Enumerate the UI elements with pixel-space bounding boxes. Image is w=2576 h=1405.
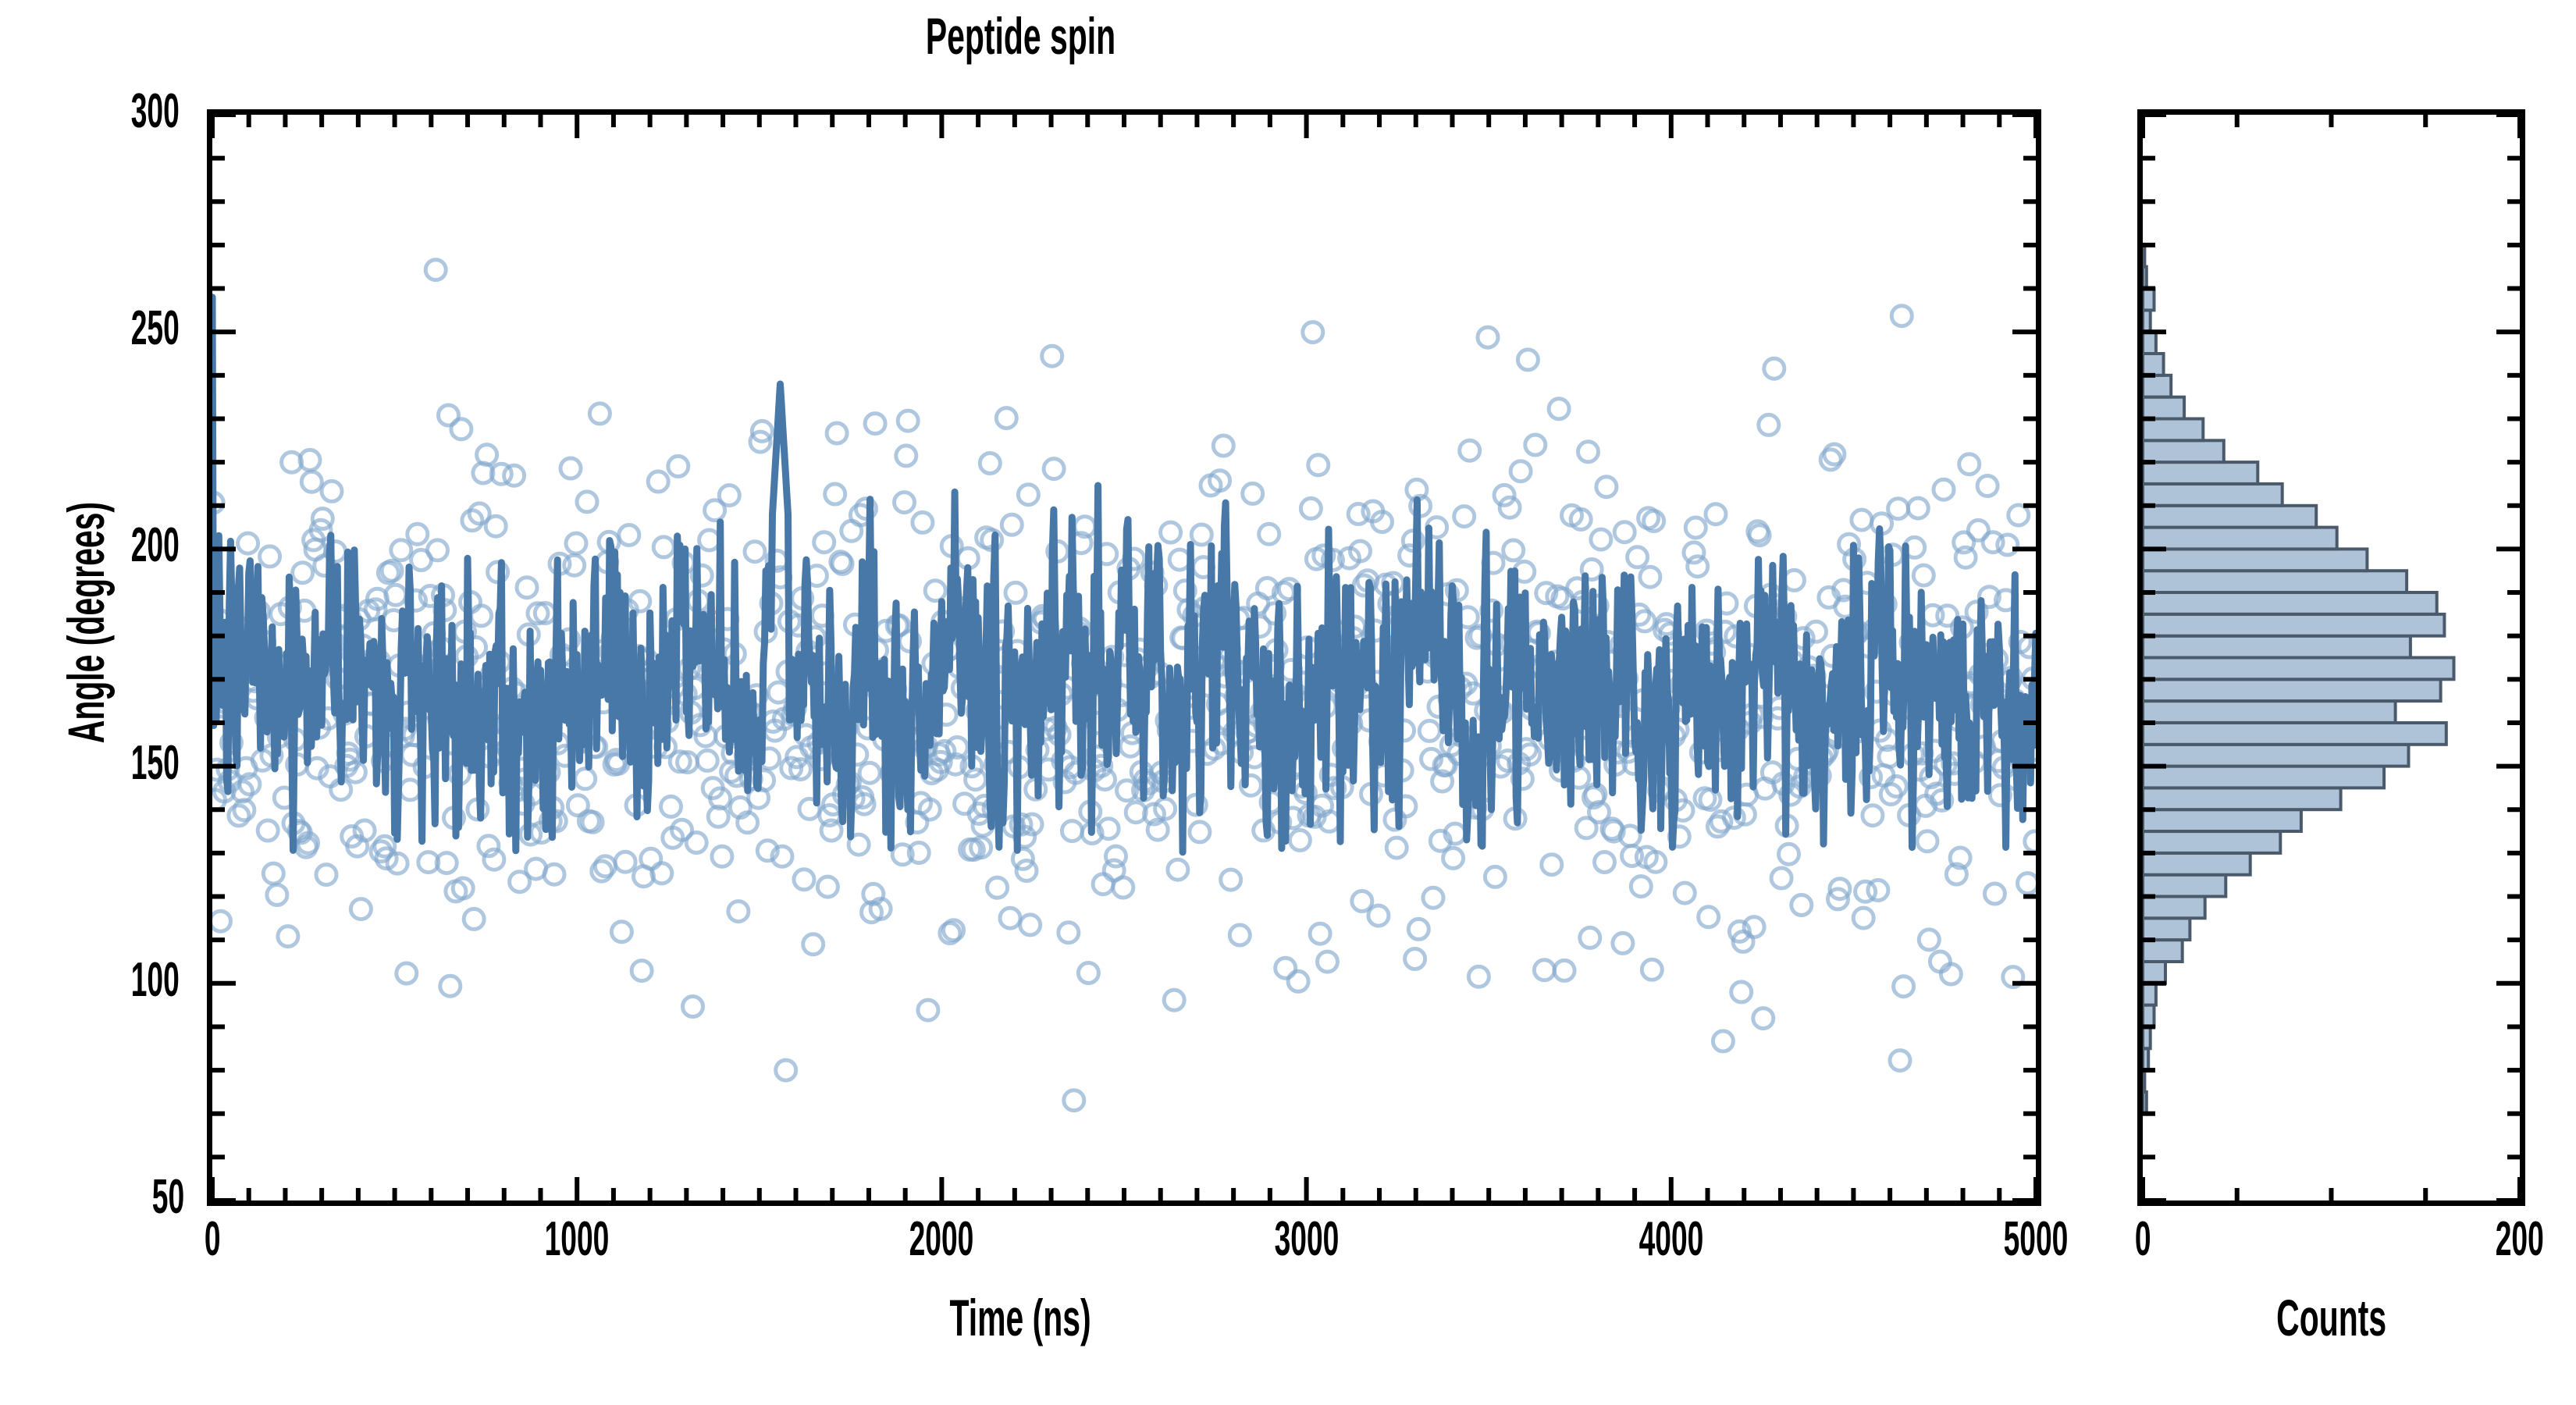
hist-x-tick-label-0: 0: [2018, 1211, 2268, 1267]
y-tick-label-200: 200: [0, 518, 195, 573]
y-axis-title-wrap: Angle (degrees): [56, 272, 116, 974]
histogram-axis-ticks: [0, 0, 2576, 1405]
y-tick-label-250: 250: [0, 301, 195, 356]
x-tick-label-4000: 4000: [1546, 1211, 1796, 1267]
x-tick-label-1000: 1000: [452, 1211, 702, 1267]
histogram-x-axis-title: Counts: [2137, 1288, 2525, 1347]
x-tick-label-2000: 2000: [817, 1211, 1066, 1267]
hist-x-tick-label-200: 200: [2395, 1211, 2576, 1267]
y-tick-label-300: 300: [0, 84, 195, 139]
y-tick-label-100: 100: [0, 952, 195, 1008]
chart-canvas: Peptide spin Angle (degrees) Time (ns) C…: [0, 0, 2576, 1405]
x-axis-title: Time (ns): [0, 1288, 2041, 1347]
x-tick-label-3000: 3000: [1182, 1211, 1432, 1267]
y-tick-label-150: 150: [0, 735, 195, 791]
x-tick-label-0: 0: [87, 1211, 337, 1267]
